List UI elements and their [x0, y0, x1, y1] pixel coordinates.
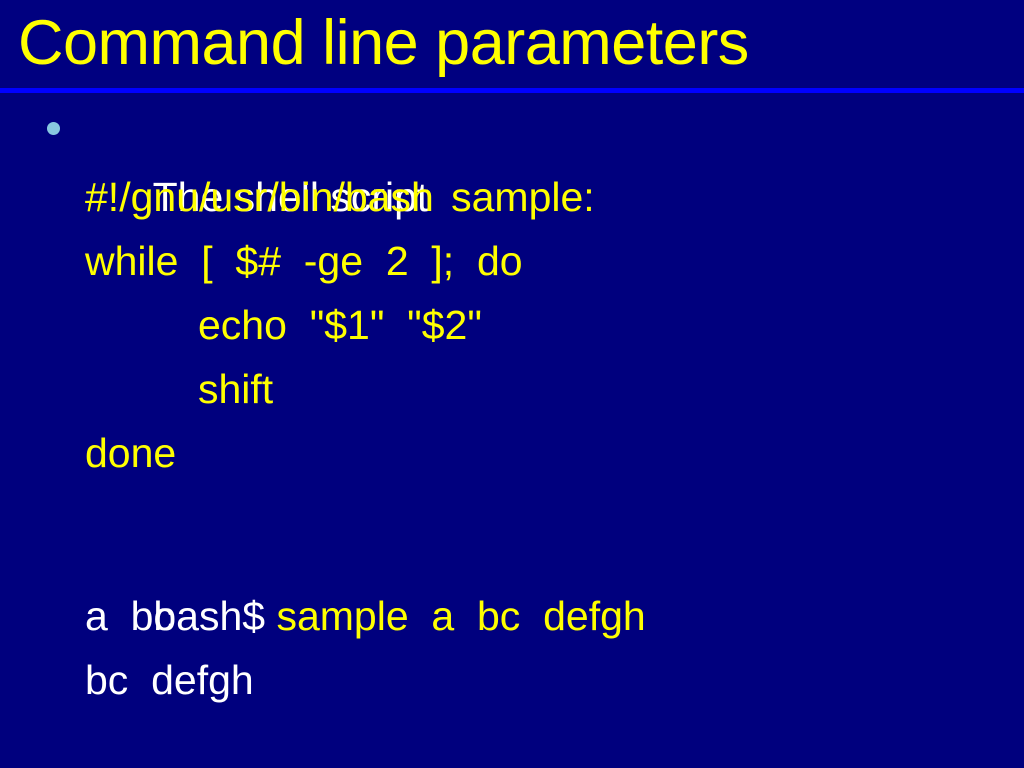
terminal-output-line-2: bc defgh — [85, 648, 254, 712]
bullet-item-highlight: sample: — [451, 174, 595, 220]
script-line-shift: shift — [198, 357, 273, 421]
bullet-item: The shell script sample: — [85, 101, 595, 165]
terminal-command: sample a bc defgh — [265, 593, 646, 639]
script-line-while: while [ $# -ge 2 ]; do — [85, 229, 523, 293]
page-title: Command line parameters — [18, 4, 749, 82]
slide: Command line parameters The shell script… — [0, 0, 1024, 768]
terminal-output-line-1: a bc — [85, 584, 174, 648]
terminal-command-line: bash$ sample a bc defgh — [85, 520, 646, 584]
script-line-echo: echo "$1" "$2" — [198, 293, 482, 357]
script-line-done: done — [85, 421, 176, 485]
title-band: Command line parameters — [0, 0, 1024, 88]
slide-body: The shell script sample: #!/gnu/usr/bin/… — [0, 93, 1024, 768]
bullet-icon — [47, 122, 60, 135]
script-line-shebang: #!/gnu/usr/bin/bash — [85, 165, 434, 229]
